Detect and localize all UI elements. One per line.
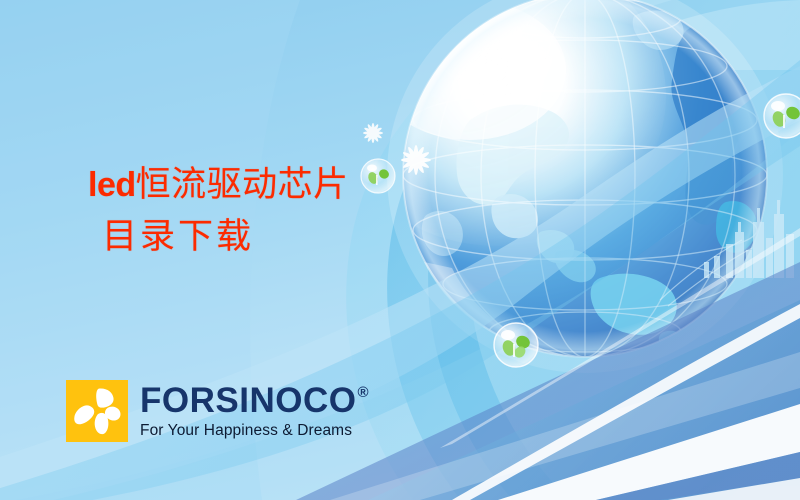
skyline-beams xyxy=(660,240,752,306)
bubble-headline xyxy=(361,159,395,193)
company-logo[interactable]: FORSINOCO® For Your Happiness & Dreams xyxy=(66,380,369,442)
bubble-top-right xyxy=(764,94,800,138)
registered-trademark-icon: ® xyxy=(357,385,369,400)
bubble-lower-center xyxy=(494,323,538,367)
sparkle-small xyxy=(363,123,383,143)
globe-illustration xyxy=(330,0,783,373)
city-skyline-silhouette xyxy=(704,200,794,278)
headline: led恒流驱动芯片 目录下载 xyxy=(88,162,349,259)
logo-wordmark: FORSINOCO® xyxy=(140,383,369,418)
promo-banner: led恒流驱动芯片 目录下载 FORSINOCO® For Your Happi… xyxy=(0,0,800,500)
headline-cjk: 恒流驱动芯片 xyxy=(136,165,349,204)
logo-tagline: For Your Happiness & Dreams xyxy=(140,423,369,439)
headline-latin: led xyxy=(88,166,136,204)
headline-line-2: 目录下载 xyxy=(102,214,349,260)
logo-text-block: FORSINOCO® For Your Happiness & Dreams xyxy=(140,383,369,439)
logo-wordmark-text: FORSINOCO xyxy=(140,383,356,418)
headline-line-1: led恒流驱动芯片 xyxy=(88,162,349,208)
corner-bands xyxy=(296,228,800,500)
sparkle-large xyxy=(401,145,431,175)
logo-mark-icon xyxy=(66,380,128,442)
swirl-ribbons xyxy=(346,0,800,500)
